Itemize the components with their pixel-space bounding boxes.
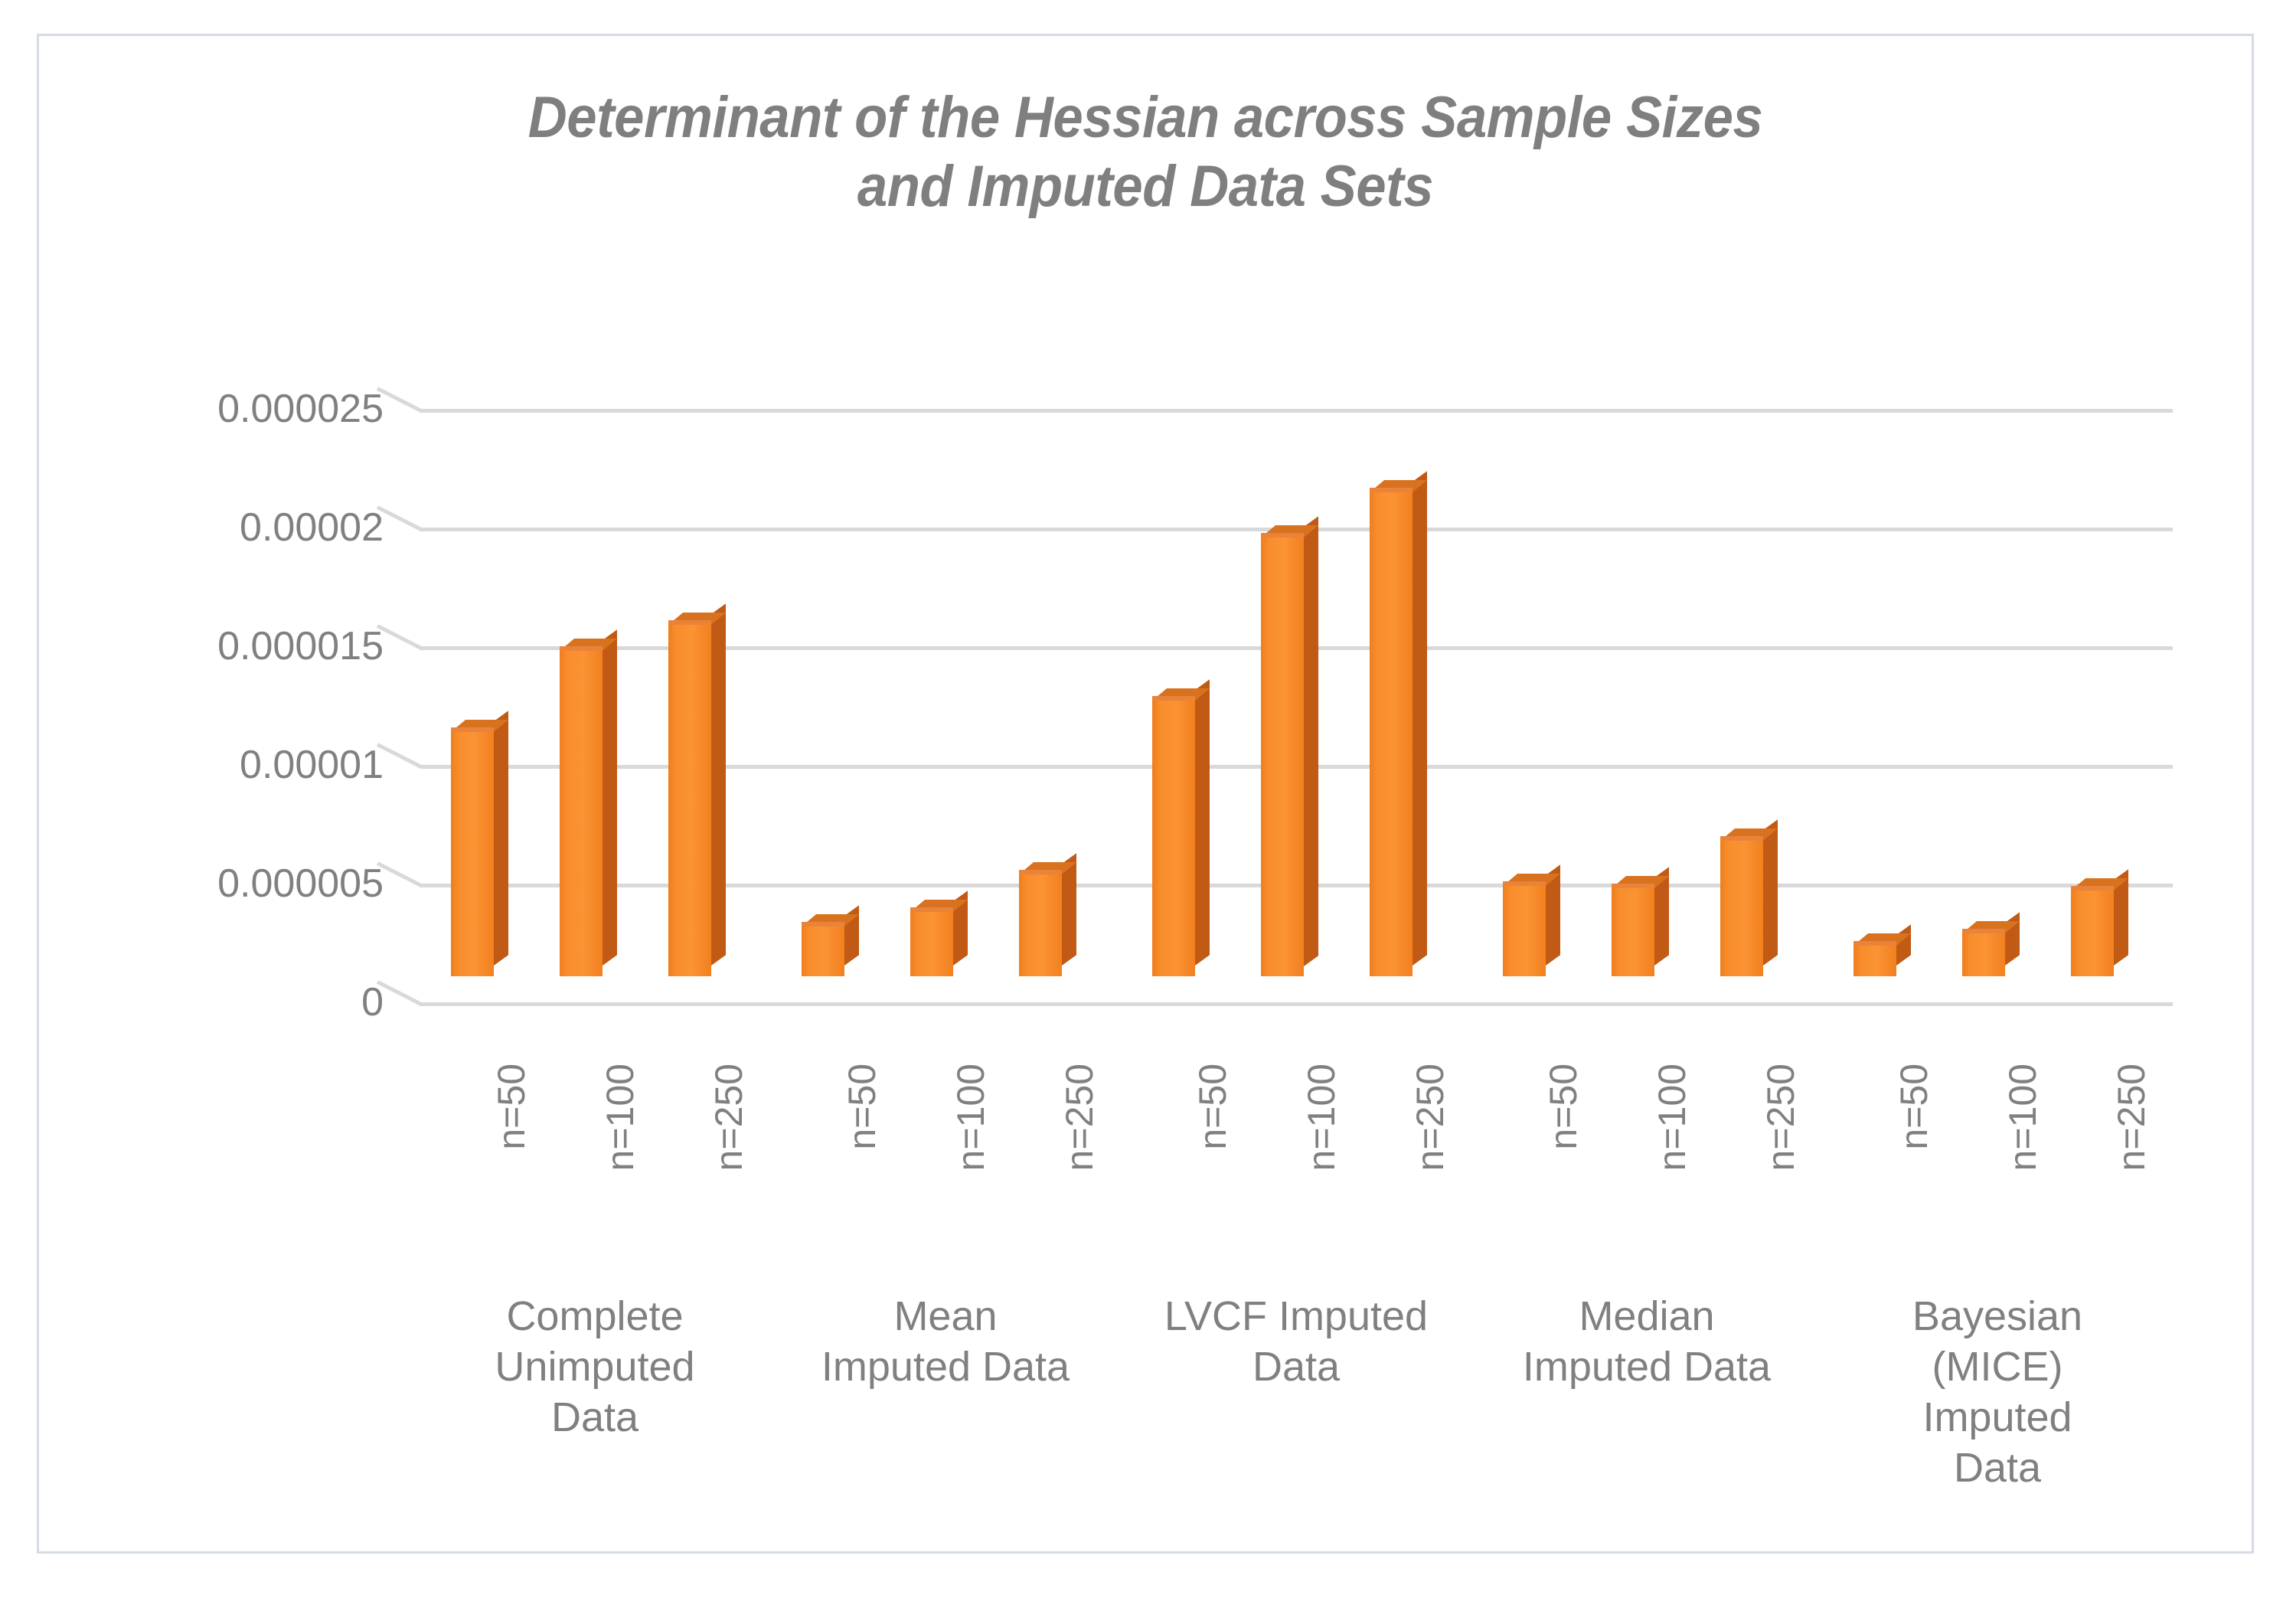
bar-top-cap [1853,941,1896,946]
bar[interactable] [1720,841,1763,976]
group-label-line: Mean [770,1292,1121,1342]
x-axis-group-label: CompleteUnimputedData [420,1292,770,1443]
bar-top-cap [1503,881,1546,886]
y-axis-tick-label: 0.000025 [217,386,384,432]
bar-front-face [451,732,494,976]
bar-front-face [560,651,603,976]
x-axis-tick-label: n=250 [1057,1064,1102,1171]
bar-column[interactable] [668,625,711,976]
bar[interactable] [1152,701,1195,976]
x-axis-tick-label: n=100 [2000,1064,2045,1171]
group-label-line: Unimputed [420,1342,770,1393]
bar-top-cap [451,727,494,732]
bar-top-cap [2071,886,2114,891]
bar-column[interactable] [1853,946,1896,976]
x-axis-tick-label: n=250 [1759,1064,1803,1171]
x-axis-tick-label: n=50 [1892,1064,1936,1150]
bar-front-face [1962,933,2005,976]
bar-front-face [1720,841,1763,976]
bar-column[interactable] [560,651,603,976]
x-axis-tick-label: n=100 [1299,1064,1344,1171]
chart-frame: Determinant of the Hessian across Sample… [37,34,2254,1554]
group-label-line: Imputed Data [770,1342,1121,1393]
bar-column[interactable] [1612,888,1654,976]
y-axis-tick-label: 0.000015 [217,623,384,669]
bar-column[interactable] [1152,701,1195,976]
bar-top-cap [1962,929,2005,933]
group-label-line: Imputed Data [1471,1342,1822,1393]
bar-front-face [1853,946,1896,976]
bar[interactable] [910,912,953,976]
bar-side-face [494,711,508,966]
y-axis-tick-label: 0 [361,979,384,1025]
bar-side-face [1763,820,1778,966]
bar-column[interactable] [1019,874,1062,976]
bar-column[interactable] [1962,933,2005,976]
x-axis-tick-label: n=50 [1541,1064,1586,1150]
bar[interactable] [1370,492,1413,976]
bar[interactable] [1019,874,1062,976]
bar-front-face [1612,888,1654,976]
bar-front-face [1503,886,1546,976]
bar[interactable] [802,926,844,976]
bar-top-cap [668,620,711,625]
bar-front-face [802,926,844,976]
bar-top-cap [910,907,953,912]
bar-front-face [668,625,711,976]
group-label-line: Data [420,1393,770,1443]
x-axis-tick-label: n=250 [1408,1064,1452,1171]
y-axis-tick-label: 0.00001 [240,742,384,788]
group-label-line: Data [1121,1342,1471,1393]
bar[interactable] [451,732,494,976]
group-label-line: (MICE) [1822,1342,2173,1393]
bar[interactable] [1853,946,1896,976]
x-axis-tick-label: n=100 [949,1064,993,1171]
y-axis-tick-label: 0.000005 [217,861,384,907]
bar-top-cap [1612,884,1654,888]
bar-column[interactable] [910,912,953,976]
x-axis-tick-label: n=50 [1190,1064,1235,1150]
bar-side-face [603,630,617,966]
bar-front-face [1370,492,1413,976]
x-axis-group-label: LVCF ImputedData [1121,1292,1471,1393]
bar-side-face [1413,471,1427,966]
bar[interactable] [1503,886,1546,976]
bar[interactable] [1612,888,1654,976]
group-label-line: LVCF Imputed [1121,1292,1471,1342]
bar-front-face [1019,874,1062,976]
bar-front-face [1152,701,1195,976]
x-axis-group-label: MeanImputed Data [770,1292,1121,1393]
x-axis-tick-labels: n=50n=100n=250n=50n=100n=250n=50n=100n=2… [420,1054,2173,1284]
x-axis-group-label: Bayesian(MICE)ImputedData [1822,1292,2173,1494]
bar-column[interactable] [2071,891,2114,976]
bar[interactable] [668,625,711,976]
bar[interactable] [2071,891,2114,976]
group-label-line: Imputed [1822,1393,2173,1443]
group-label-line: Complete [420,1292,770,1342]
bar-side-face [1304,516,1318,966]
bar-column[interactable] [1370,492,1413,976]
bar-top-cap [802,922,844,926]
bar-column[interactable] [451,732,494,976]
bar-side-face [711,603,726,966]
bar-top-cap [1720,836,1763,841]
x-axis-group-labels: CompleteUnimputedDataMeanImputed DataLVC… [420,1292,2173,1598]
bar-side-face [1195,680,1210,966]
x-axis-tick-label: n=50 [489,1064,534,1150]
bar-front-face [2071,891,2114,976]
bar-top-cap [1019,870,1062,874]
bar[interactable] [1261,538,1304,977]
x-axis-tick-label: n=100 [1650,1064,1694,1171]
bar-column[interactable] [1261,538,1304,977]
bar-side-face [2005,912,2020,966]
group-label-line: Data [1822,1443,2173,1494]
bar-top-cap [1152,696,1195,701]
bar-top-cap [1370,488,1413,492]
x-axis-tick-label: n=250 [707,1064,751,1171]
x-axis-group-label: MedianImputed Data [1471,1292,1822,1393]
x-axis-tick-label: n=250 [2109,1064,2154,1171]
x-axis-tick-label: n=100 [598,1064,642,1171]
bar-column[interactable] [802,926,844,976]
bar-top-cap [1261,533,1304,538]
bar-side-face [1896,924,1911,966]
bar-front-face [1261,538,1304,977]
y-axis-tick-label: 0.00002 [240,505,384,551]
bar-front-face [910,912,953,976]
group-label-line: Bayesian [1822,1292,2173,1342]
y-axis-tick-labels: 0.0000250.000020.0000150.000010.0000050 [123,36,384,1551]
bar[interactable] [1962,933,2005,976]
group-label-line: Median [1471,1292,1822,1342]
bar-column[interactable] [1720,841,1763,976]
x-axis-tick-label: n=50 [840,1064,884,1150]
bar-top-cap [560,646,603,651]
bar-column[interactable] [1503,886,1546,976]
bar[interactable] [560,651,603,976]
